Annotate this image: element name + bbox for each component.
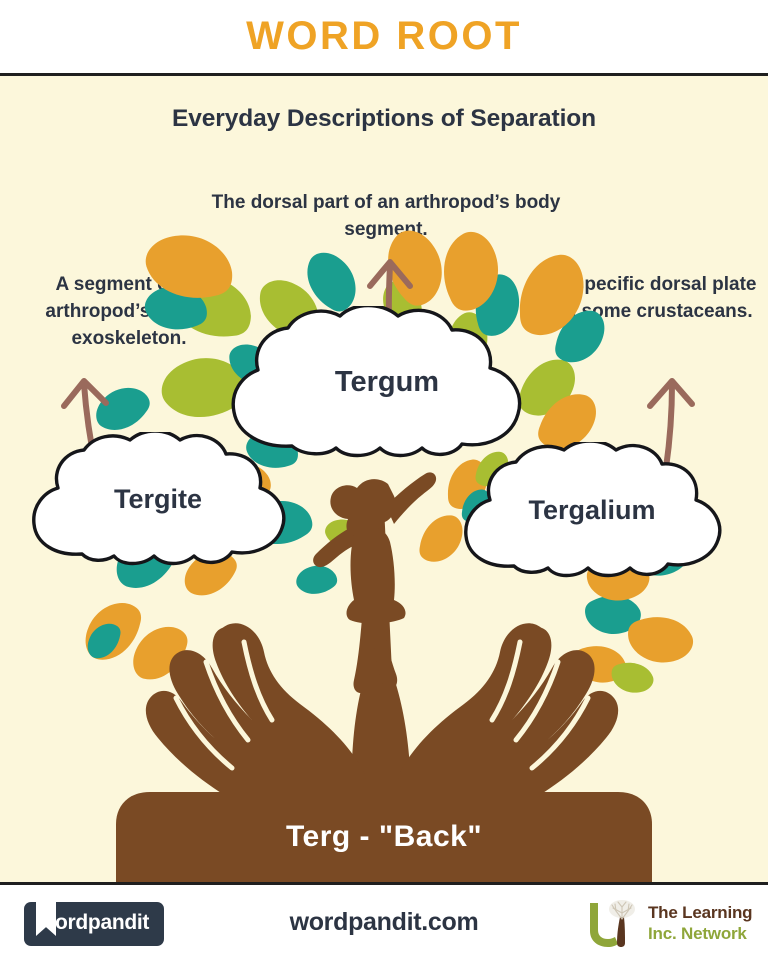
partner-logo-line2: Inc. Network — [648, 924, 752, 945]
page-title: WORD ROOT — [246, 14, 522, 59]
root-word-label: Terg - "Back" — [0, 820, 768, 854]
cloud-shape — [456, 442, 728, 578]
tree-u-icon — [582, 899, 642, 949]
infographic-poster: WORD ROOT Everyday Descriptions of Separ… — [0, 0, 768, 960]
header-bar: WORD ROOT — [0, 0, 768, 76]
partner-logo-text: The Learning Inc. Network — [648, 903, 752, 944]
the-learning-inc-network-logo[interactable]: The Learning Inc. Network — [582, 899, 754, 949]
cloud-shape — [24, 432, 292, 566]
cloud-bubble-tergalium[interactable]: Tergalium — [456, 442, 728, 578]
footer-bar: ordpandit wordpandit.com — [0, 882, 768, 960]
cloud-bubble-tergite[interactable]: Tergite — [24, 432, 292, 566]
partner-logo-line1: The Learning — [648, 903, 752, 924]
